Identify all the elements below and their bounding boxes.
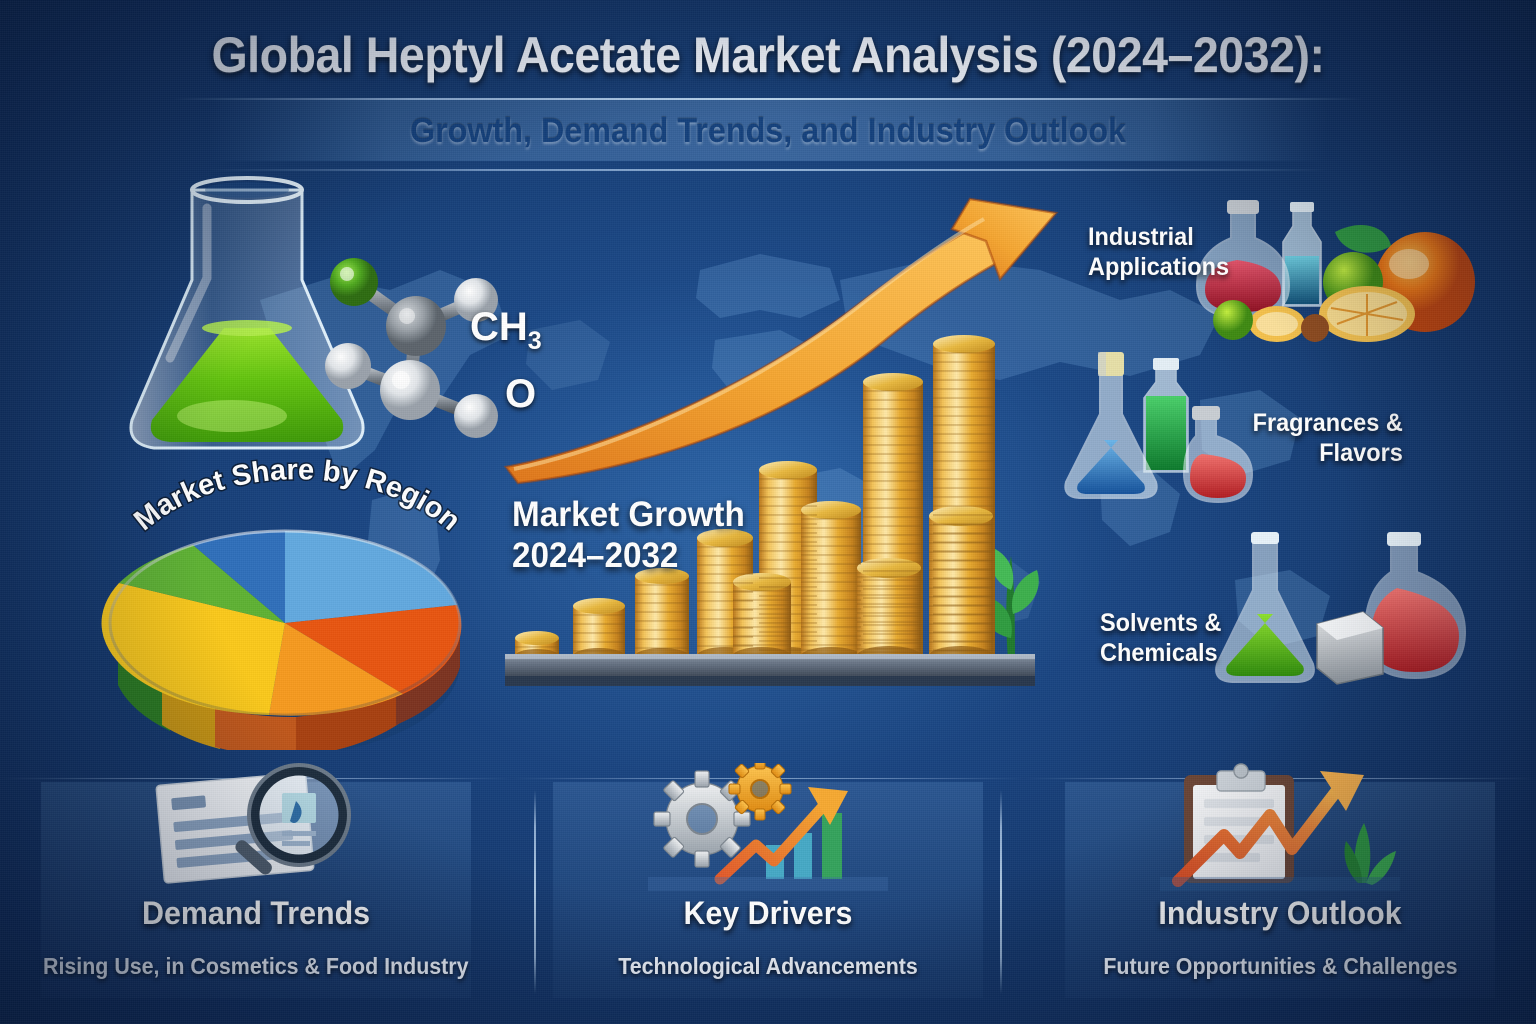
market-growth-label-line2: 2024–2032	[512, 536, 745, 577]
panel-title-key-drivers: Key Drivers	[683, 895, 852, 932]
molecule-label-ch3: CH3	[470, 305, 542, 356]
label-fragrances-flavors: Fragrances & Flavors	[1253, 408, 1403, 468]
label-industrial-line2: Applications	[1088, 252, 1229, 282]
infographic-canvas: Global Heptyl Acetate Market Analysis (2…	[0, 0, 1536, 1024]
label-solvents-chemicals: Solvents & Chemicals	[1100, 608, 1221, 668]
document-magnifier-icon	[136, 763, 376, 891]
gears-growth-chart-icon	[648, 763, 888, 891]
panel-divider-1	[534, 790, 536, 994]
panel-demand-trends[interactable]: Demand Trends Rising Use, in Cosmetics &…	[0, 764, 512, 1024]
clipboard-arrow-icon	[1160, 763, 1400, 891]
panel-subtitle-demand-trends: Rising Use, in Cosmetics & Food Industry	[43, 953, 468, 980]
label-solvents-line2: Chemicals	[1100, 638, 1221, 668]
panel-title-industry-outlook: Industry Outlook	[1158, 895, 1401, 932]
fruits-and-bottles-icon	[1185, 198, 1515, 343]
market-growth-label-line1: Market Growth	[512, 495, 745, 536]
panel-divider-2	[1000, 790, 1002, 994]
label-industrial-line1: Industrial	[1088, 222, 1229, 252]
panel-key-drivers[interactable]: Key Drivers Technological Advancements	[512, 764, 1024, 1024]
label-solvents-line1: Solvents &	[1100, 608, 1221, 638]
panel-title-demand-trends: Demand Trends	[142, 895, 370, 932]
subtitle-band: Growth, Demand Trends, and Industry Outl…	[208, 100, 1328, 161]
header: Global Heptyl Acetate Market Analysis (2…	[0, 0, 1536, 171]
solvent-flasks-icon	[1215, 532, 1515, 692]
panel-industry-outlook[interactable]: Industry Outlook Future Opportunities & …	[1024, 764, 1536, 1024]
molecule-label-o: O	[505, 372, 536, 417]
panel-subtitle-key-drivers: Technological Advancements	[618, 953, 918, 980]
page-subtitle: Growth, Demand Trends, and Industry Outl…	[236, 112, 1300, 151]
label-industrial-applications: Industrial Applications	[1088, 222, 1229, 282]
label-fragrances-line2: Flavors	[1253, 438, 1403, 468]
label-fragrances-line1: Fragrances &	[1253, 408, 1403, 438]
subtitle-divider	[208, 169, 1328, 171]
pie-chart-title: Market Share by Region	[122, 476, 472, 556]
bottom-panel-row: Demand Trends Rising Use, in Cosmetics &…	[0, 764, 1536, 1024]
panel-subtitle-industry-outlook: Future Opportunities & Challenges	[1103, 953, 1457, 980]
market-growth-label: Market Growth 2024–2032	[512, 495, 745, 577]
page-title: Global Heptyl Acetate Market Analysis (2…	[54, 0, 1482, 84]
